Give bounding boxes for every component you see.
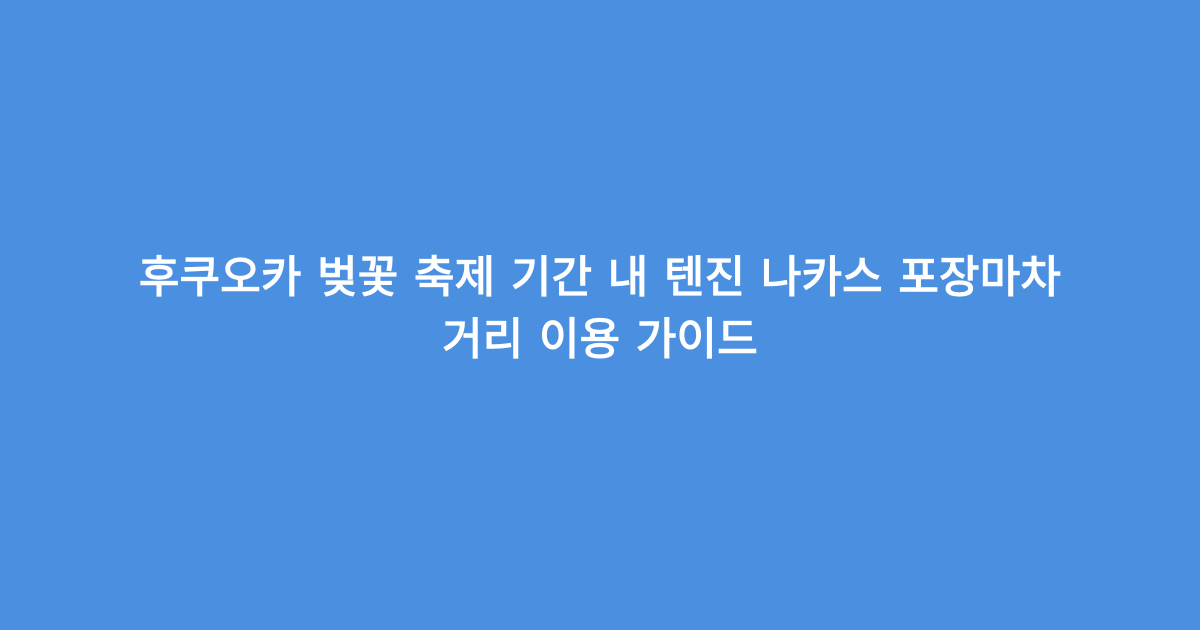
page-title-line-1: 후쿠오카 벚꽃 축제 기간 내 텐진 나카스 포장마차 <box>80 247 1120 309</box>
title-block: 후쿠오카 벚꽃 축제 기간 내 텐진 나카스 포장마차 거리 이용 가이드 <box>40 247 1160 371</box>
share-card: 후쿠오카 벚꽃 축제 기간 내 텐진 나카스 포장마차 거리 이용 가이드 <box>0 0 1200 630</box>
page-title-line-2: 거리 이용 가이드 <box>80 309 1120 371</box>
page-title: 후쿠오카 벚꽃 축제 기간 내 텐진 나카스 포장마차 거리 이용 가이드 <box>80 247 1120 371</box>
